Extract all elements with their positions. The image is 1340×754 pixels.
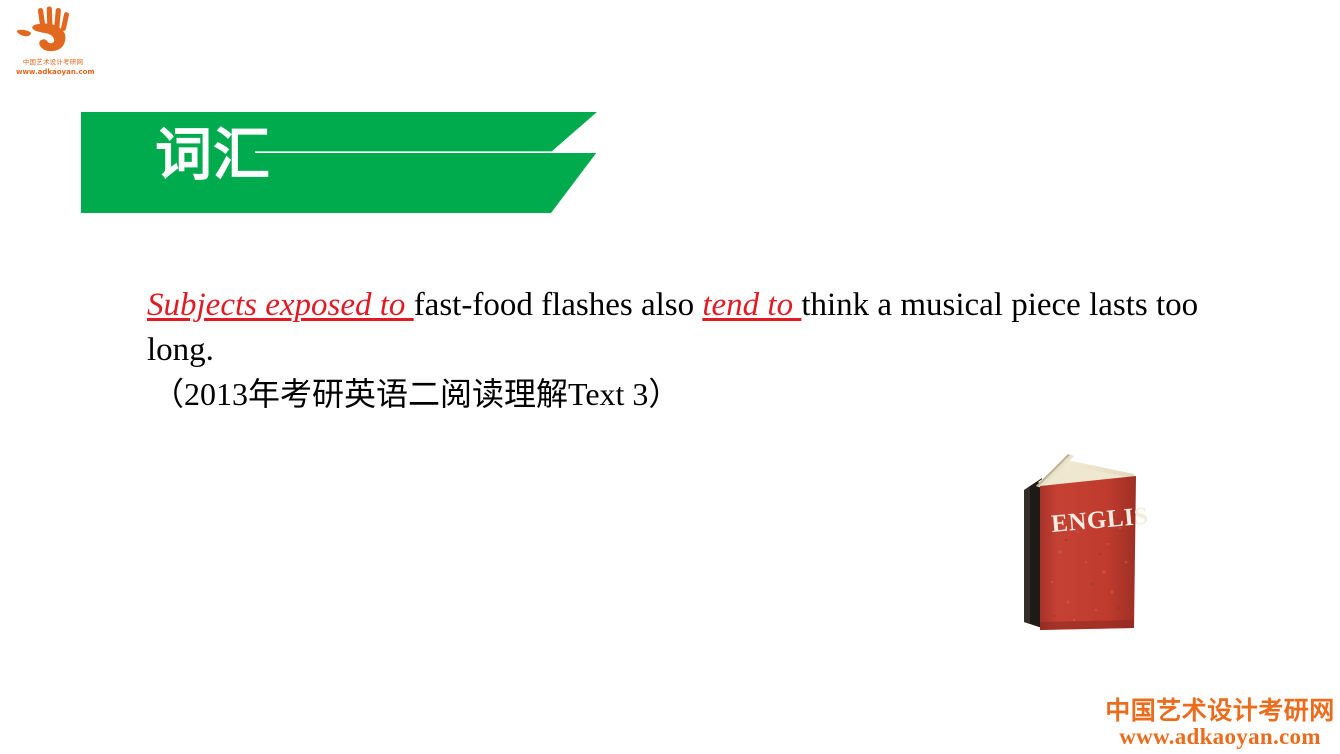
highlight-phrase-2: tend to <box>702 287 801 323</box>
english-book-image: ENGLISH <box>1008 432 1148 640</box>
watermark-site-name: 中国艺术设计考研网 <box>1104 697 1336 724</box>
section-banner: 词汇 <box>81 112 597 213</box>
logo-site-name-cn: 中国艺术设计考研网 <box>18 58 88 67</box>
slide-canvas: 中国艺术设计考研网 www.adkaoyan.com 词汇 Subjects e… <box>0 0 1340 754</box>
banner-title: 词汇 <box>155 120 271 190</box>
watermark: 中国艺术设计考研网 www.adkaoyan.com <box>1104 697 1336 749</box>
site-logo: 中国艺术设计考研网 www.adkaoyan.com <box>12 6 132 84</box>
source-citation: （2013年考研英语二阅读理解Text 3） <box>152 373 680 415</box>
example-sentence: Subjects exposed to fast-food flashes al… <box>147 283 1207 373</box>
logo-site-url: www.adkaoyan.com <box>16 68 90 77</box>
highlight-phrase-1: Subjects exposed to <box>147 287 414 323</box>
watermark-url: www.adkaoyan.com <box>1104 724 1336 749</box>
handprint-icon <box>16 6 78 58</box>
plain-text-1: fast-food flashes also <box>414 287 703 323</box>
